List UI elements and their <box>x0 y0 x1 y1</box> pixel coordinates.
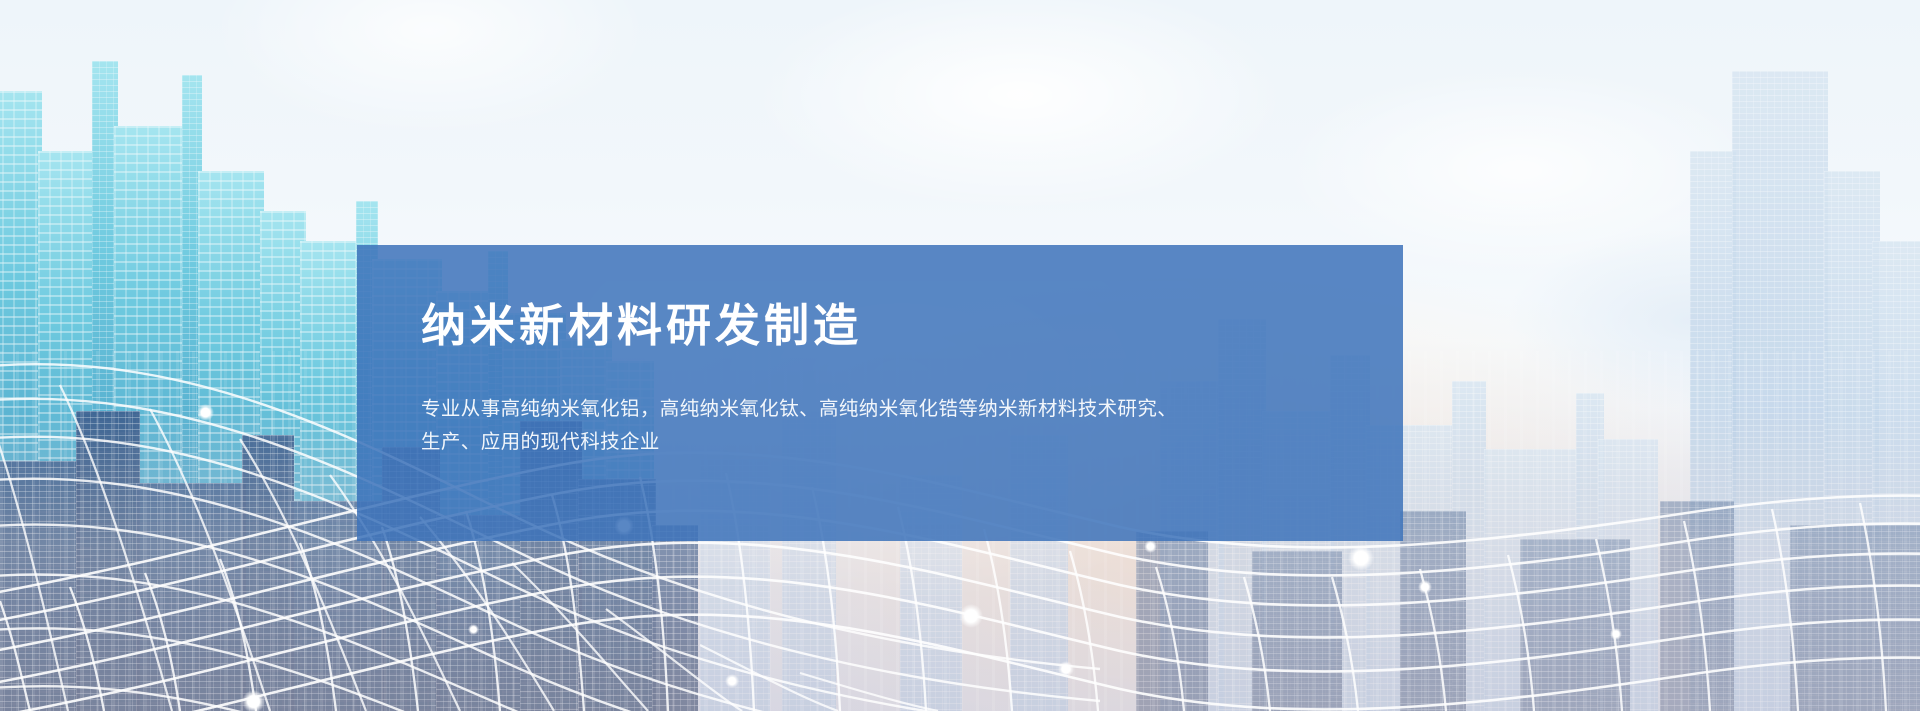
page-title: 纳米新材料研发制造 <box>421 301 1339 351</box>
hero-text-panel: 纳米新材料研发制造 专业从事高纯纳米氧化铝，高纯纳米氧化钛、高纯纳米氧化锆等纳米… <box>357 245 1403 541</box>
page-subtitle: 专业从事高纯纳米氧化铝，高纯纳米氧化钛、高纯纳米氧化锆等纳米新材料技术研究、 生… <box>421 393 1211 459</box>
hero-banner: 纳米新材料研发制造 专业从事高纯纳米氧化铝，高纯纳米氧化钛、高纯纳米氧化锆等纳米… <box>0 0 1920 711</box>
subtitle-line-2: 生产、应用的现代科技企业 <box>421 426 1211 459</box>
subtitle-line-1: 专业从事高纯纳米氧化铝，高纯纳米氧化钛、高纯纳米氧化锆等纳米新材料技术研究、 <box>421 393 1211 426</box>
